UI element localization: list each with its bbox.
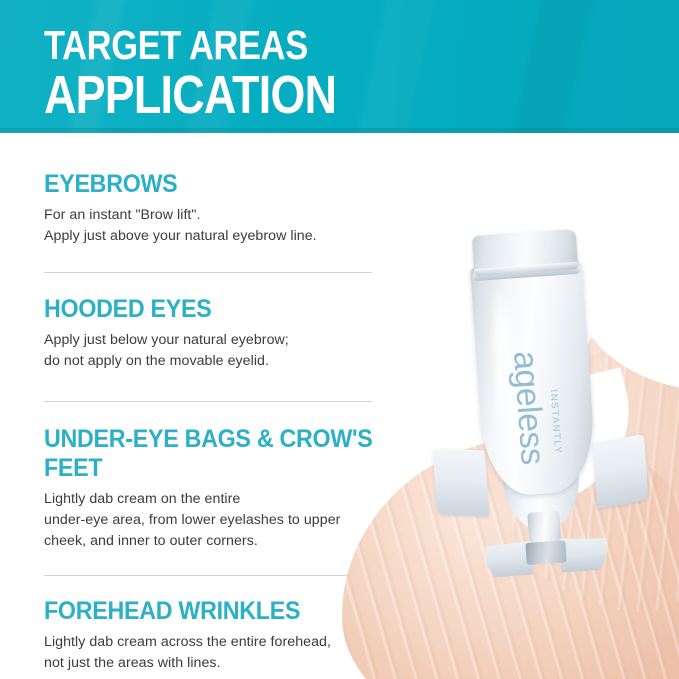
product-tube: INSTANTLY ageless xyxy=(459,220,614,598)
tube-top-seal xyxy=(472,229,579,276)
tube-cap xyxy=(525,540,566,565)
cream-texture-upper xyxy=(506,352,679,612)
product-brand-label: INSTANTLY ageless xyxy=(479,311,589,468)
section-heading: UNDER-EYE BAGS & CROW'S FEET xyxy=(44,425,379,483)
section-body: Lightly dab cream on the entire under-ey… xyxy=(44,489,384,552)
cream-blob-right xyxy=(580,290,679,490)
section-eyebrows: EYEBROWS For an instant "Brow lift". App… xyxy=(44,133,384,273)
tube-wing-right xyxy=(593,434,649,509)
section-heading: FOREHEAD WRINKLES xyxy=(44,597,360,626)
infographic-page: TARGET AREAS APPLICATION EYEBROWS For an… xyxy=(0,0,679,679)
section-forehead-wrinkles: FOREHEAD WRINKLES Lightly dab cream acro… xyxy=(44,576,384,674)
tube-crimp xyxy=(472,265,580,282)
brand-prefix-text: INSTANTLY xyxy=(548,389,564,455)
tube-cap-wing-left xyxy=(485,541,533,578)
cream-notch xyxy=(504,367,648,508)
section-body: Lightly dab cream across the entire fore… xyxy=(44,632,384,674)
banner-title-line2: APPLICATION xyxy=(44,68,336,122)
banner-title-line1: TARGET AREAS xyxy=(44,24,340,66)
cream-blob-main xyxy=(342,436,679,679)
section-heading: HOODED EYES xyxy=(44,295,360,324)
banner-title-group: TARGET AREAS APPLICATION xyxy=(44,24,396,122)
section-heading: EYEBROWS xyxy=(44,170,360,199)
section-hooded-eyes: HOODED EYES Apply just below your natura… xyxy=(44,273,384,402)
cream-texture-main xyxy=(342,436,679,679)
cream-notch-upper xyxy=(566,260,679,390)
cream-blob-upper xyxy=(506,352,679,602)
section-body: Apply just below your natural eyebrow; d… xyxy=(44,330,384,372)
brand-name-text: ageless xyxy=(507,350,551,466)
tube-lower-body xyxy=(501,446,582,531)
tube-highlight xyxy=(489,280,524,496)
tube-wing-left xyxy=(433,449,490,517)
tube-cap-wing-right xyxy=(559,536,607,573)
section-body: For an instant "Brow lift". Apply just a… xyxy=(44,205,384,247)
header-banner: TARGET AREAS APPLICATION xyxy=(0,0,679,133)
tube-neck xyxy=(527,511,562,559)
sections-list: EYEBROWS For an instant "Brow lift". App… xyxy=(44,133,384,674)
section-under-eye-bags-crows-feet: UNDER-EYE BAGS & CROW'S FEET Lightly dab… xyxy=(44,402,384,576)
tube-body xyxy=(470,259,598,498)
